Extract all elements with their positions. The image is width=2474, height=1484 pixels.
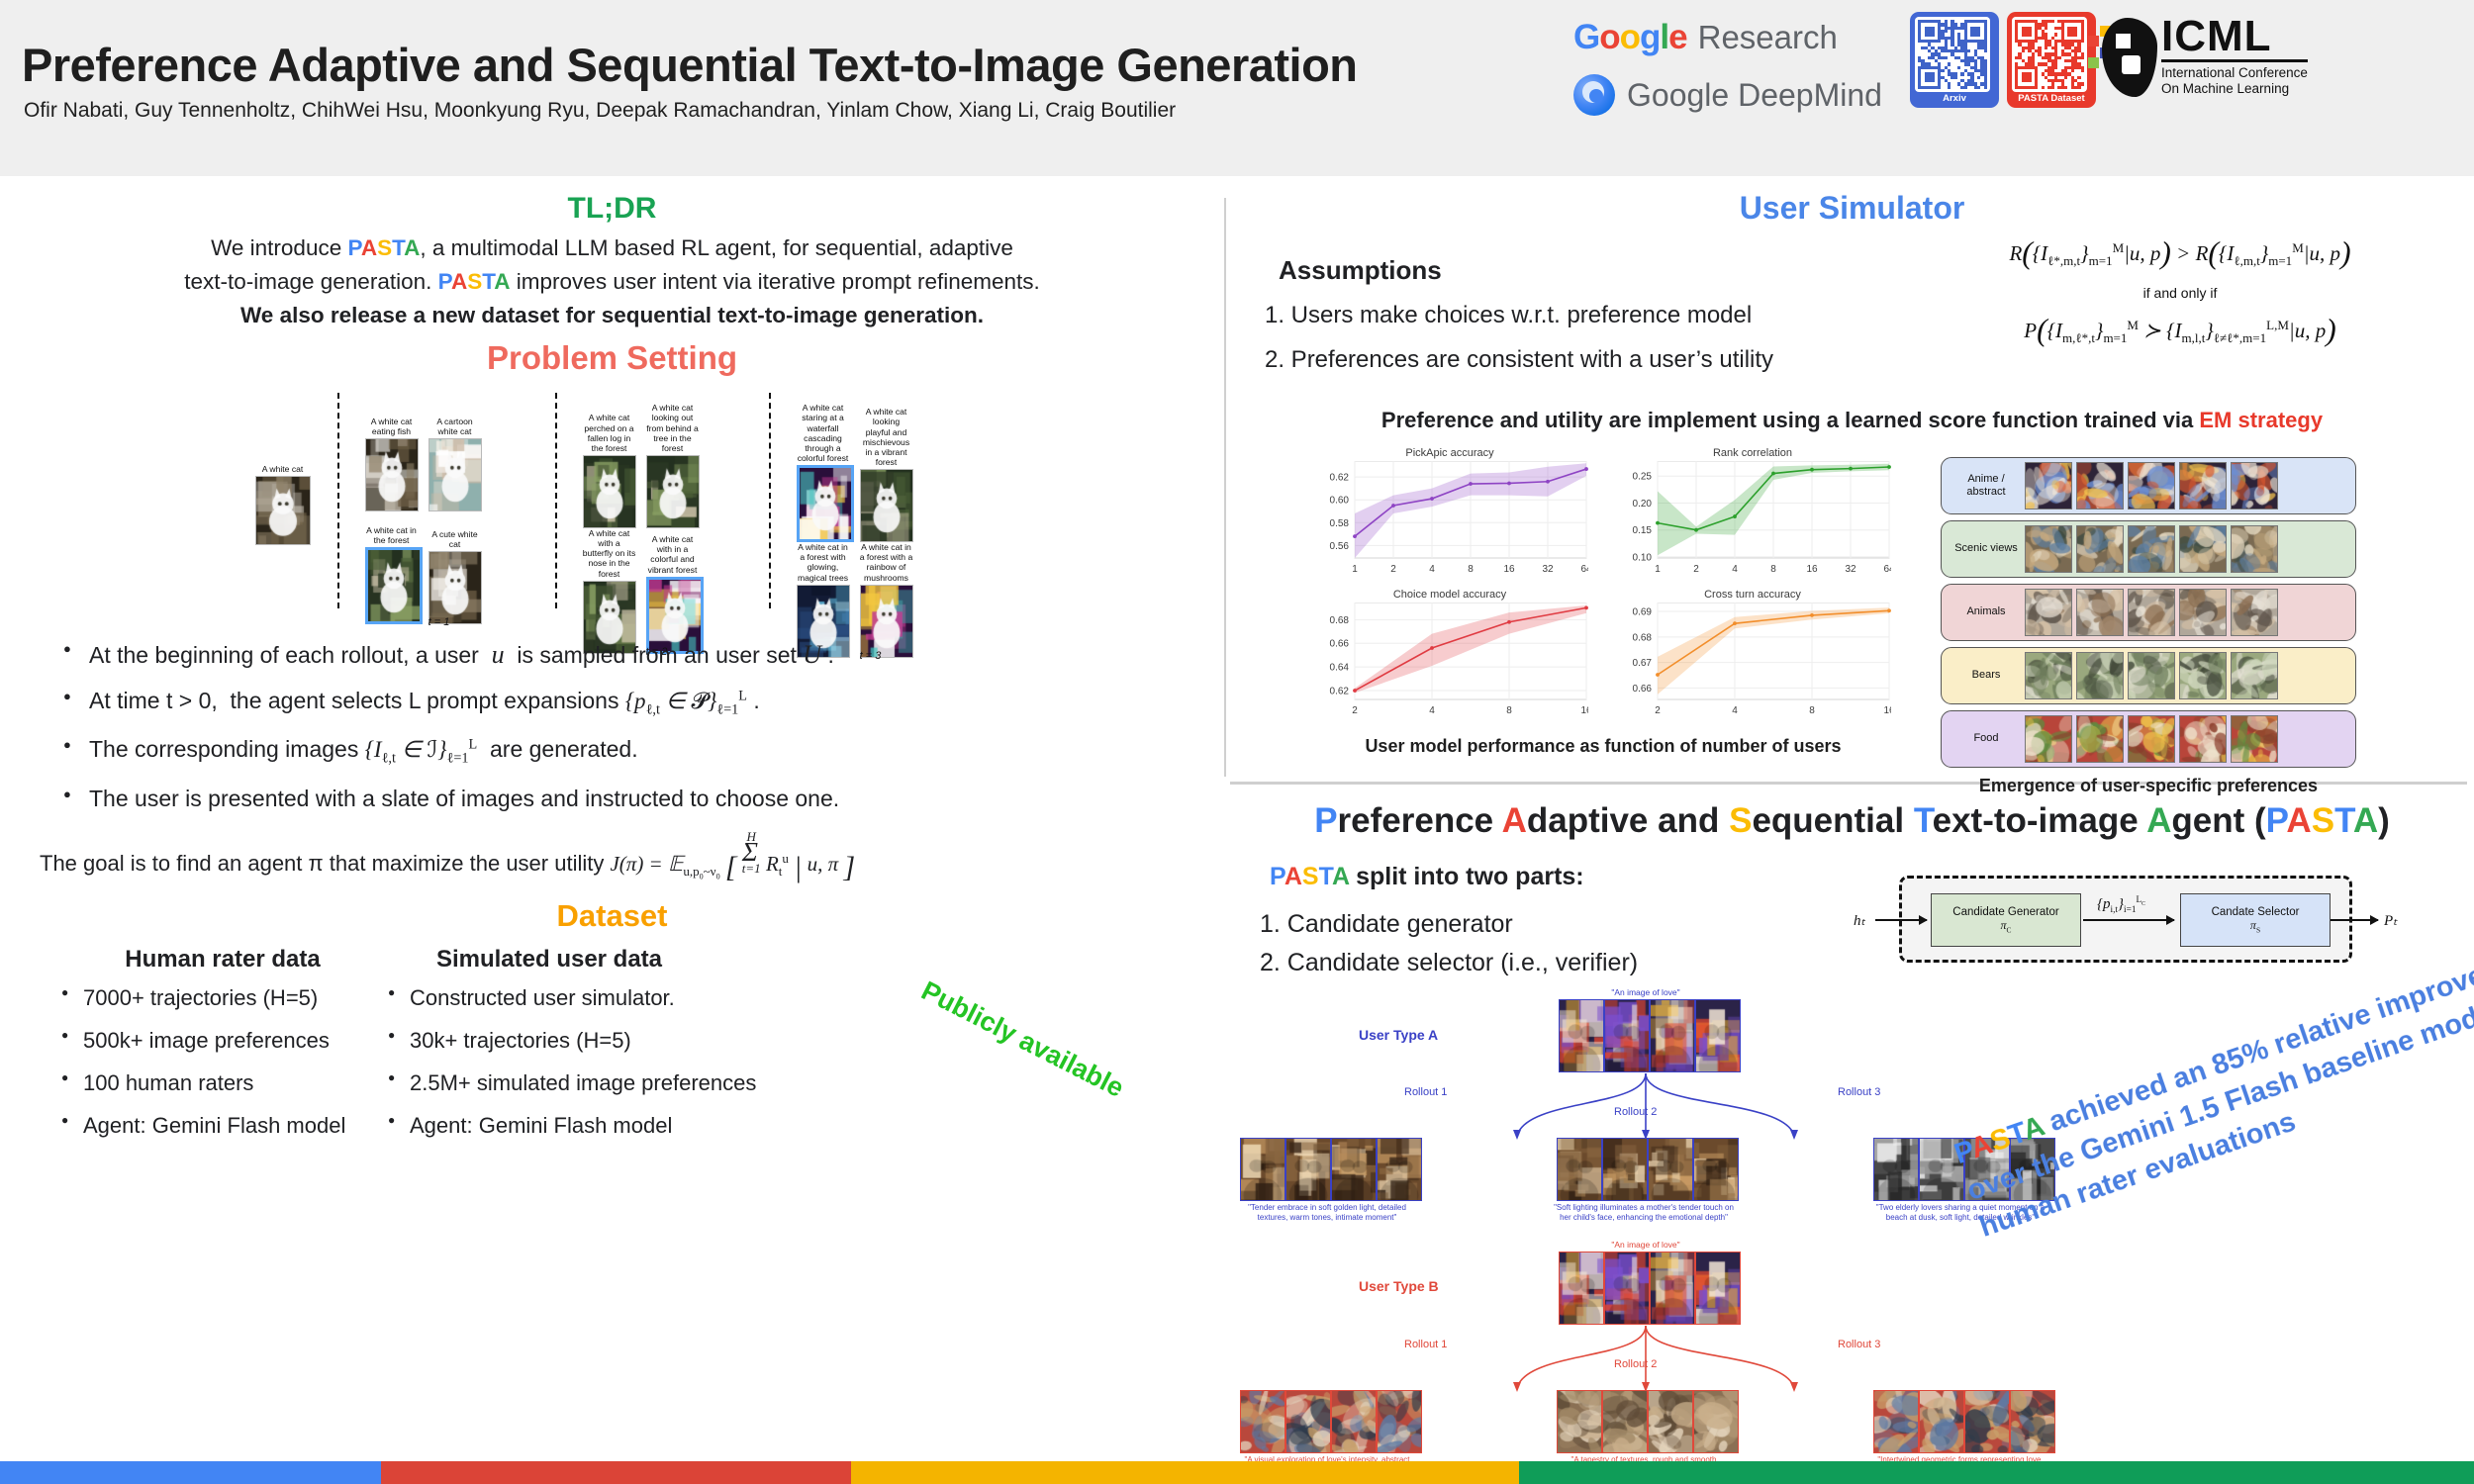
svg-text:0.20: 0.20: [1633, 499, 1653, 510]
flow-arrow-mid: [2083, 919, 2174, 921]
tldr-line3: We also release a new dataset for sequen…: [240, 303, 984, 327]
chart-title: PickApic accuracy: [1311, 447, 1588, 459]
svg-text:0.60: 0.60: [1330, 496, 1350, 507]
candidate-selector-label: Candate Selector: [2212, 906, 2300, 918]
preference-thumb: [2128, 715, 2175, 763]
slate-image[interactable]: [1604, 1252, 1650, 1325]
slate-image[interactable]: [1285, 1138, 1331, 1201]
preference-thumb: [2025, 462, 2072, 510]
rollout-a-slate-2: [1557, 1138, 1739, 1201]
svg-text:32: 32: [1542, 564, 1554, 575]
list-item: Agent: Gemini Flash model: [386, 1113, 713, 1139]
user-type-a-label: User Type A: [1359, 1027, 1438, 1043]
prompt-image-cell[interactable]: A white cat staring at a waterfall casca…: [797, 403, 850, 542]
seed-caption: A white cat: [246, 464, 320, 474]
bar-segment-red: [381, 1461, 851, 1484]
prompt-image-cell[interactable]: A white cat in the forest: [365, 511, 419, 624]
qr-card-arxiv[interactable]: Arxiv: [1910, 12, 1999, 108]
list-item: 2. Preferences are consistent with a use…: [1265, 346, 1898, 374]
svg-text:0.25: 0.25: [1633, 472, 1653, 483]
slate-image[interactable]: [1557, 1138, 1602, 1201]
svg-text:0.66: 0.66: [1633, 684, 1653, 695]
candidate-generator-box: Candidate Generator πC: [1931, 893, 2081, 947]
list-item: The user is presented with a slate of im…: [63, 787, 1224, 810]
rollout-b-root-prompt: "An image of love": [1557, 1240, 1735, 1250]
timestep-group-1: A white cat eating fishA cartoon white c…: [365, 403, 514, 624]
dataset-section: Dataset Human rater data 7000+ trajector…: [0, 898, 1224, 1156]
prompt-image-cell[interactable]: A white cat in a forest with a rainbow o…: [860, 542, 913, 658]
svg-text:0.62: 0.62: [1330, 687, 1350, 697]
dataset-col-title: Human rater data: [59, 946, 386, 974]
dataset-column-simulated: Simulated user data Constructed user sim…: [386, 946, 713, 1156]
tldr-heading: TL;DR: [0, 192, 1224, 226]
list-item: Constructed user simulator.: [386, 985, 713, 1011]
svg-text:8: 8: [1809, 705, 1815, 716]
tldr-line2-post: improves user intent via iterative promp…: [511, 269, 1040, 294]
svg-text:8: 8: [1468, 564, 1474, 575]
slate-image[interactable]: [2010, 1390, 2055, 1453]
poster-root: Preference Adaptive and Sequential Text-…: [0, 0, 2474, 1484]
svg-text:64: 64: [1883, 564, 1891, 575]
icml-name: ICML: [2161, 16, 2308, 57]
user-preference-grid: Anime / abstractScenic viewsAnimalsBears…: [1941, 457, 2356, 796]
bar-segment-blue: [0, 1461, 381, 1484]
tldr-line1-pre: We introduce: [211, 235, 347, 260]
equation-bottom: P({Im,ℓ*,t}m=1M ≻ {Im,l,t}ℓ≠ℓ*,m=1L,M|u,…: [1903, 313, 2457, 348]
list-item: 7000+ trajectories (H=5): [59, 985, 386, 1011]
rollout-a-root-prompt: "An image of love": [1557, 987, 1735, 997]
candidate-generator-policy: πC: [2001, 918, 2012, 934]
slate-image[interactable]: [1693, 1390, 1739, 1453]
column-divider: [1224, 198, 1226, 777]
prefgrid-caption: Emergence of user-specific preferences: [1941, 776, 2356, 796]
bottom-color-bar: [0, 1461, 2474, 1484]
icml-text: ICML International Conference On Machine…: [2161, 16, 2308, 97]
slate-image[interactable]: [1240, 1138, 1285, 1201]
preference-thumb: [2231, 589, 2278, 636]
prompt-image-cell[interactable]: A white cat perched on a fallen log in t…: [583, 413, 636, 528]
preference-thumb: [2076, 525, 2124, 573]
generated-image-selected[interactable]: [797, 465, 854, 542]
generated-image-selected[interactable]: [365, 547, 423, 624]
preference-thumb: [2025, 715, 2072, 763]
prompt-caption: A cartoon white cat: [428, 403, 482, 436]
prompt-caption: A white cat perched on a fallen log in t…: [583, 413, 636, 453]
svg-text:16: 16: [1580, 705, 1588, 716]
chart-2: Rank correlation0.100.150.200.2512481632…: [1614, 447, 1891, 585]
rollout-diagram: "An image of love" User Type A Rollout 1…: [1230, 960, 2259, 1484]
qr-label-arxiv: Arxiv: [1915, 92, 1994, 105]
svg-text:0.58: 0.58: [1330, 518, 1350, 529]
rollout-b-slate-2: [1557, 1390, 1739, 1453]
prompt-caption: A white cat in the forest: [365, 511, 419, 545]
chart-svg: 0.660.670.680.6924816: [1614, 603, 1891, 721]
tldr-line1-post: , a multimodal LLM based RL agent, for s…: [420, 235, 1013, 260]
slate-image[interactable]: [1650, 999, 1695, 1072]
timestep-group-3: A white cat staring at a waterfall casca…: [797, 403, 945, 657]
svg-text:4: 4: [1429, 564, 1435, 575]
em-strategy-highlight: EM strategy: [2199, 408, 2323, 432]
prompt-image-cell[interactable]: A white cat eating fish: [365, 403, 419, 511]
assumptions-title: Assumptions: [1279, 255, 1898, 286]
preference-thumb: [2128, 589, 2175, 636]
list-item: At the beginning of each rollout, a user…: [63, 641, 1224, 668]
preference-thumb: [2025, 525, 2072, 573]
prompt-caption: A white cat looking out from behind a tr…: [646, 403, 700, 453]
prompt-caption: A white cat looking playful and mischiev…: [860, 407, 913, 467]
qr-label-pasta: PASTA Dataset: [2012, 92, 2091, 105]
user-simulator-heading: User Simulator: [1230, 178, 2474, 227]
rollout-b-root-slate: [1559, 1252, 1741, 1325]
pasta-split-title: PASTA split into two parts:: [1270, 863, 1584, 891]
preference-thumb: [2231, 462, 2278, 510]
slate-image[interactable]: [1559, 999, 1604, 1072]
qr-image-pasta: [2012, 17, 2087, 92]
rollout-a-caption-2: "Soft lighting illuminates a mother's te…: [1551, 1203, 1737, 1223]
svg-text:0.62: 0.62: [1330, 473, 1350, 484]
flow-output-label: Pₜ: [2384, 911, 2398, 930]
prompt-caption: A white cat eating fish: [365, 403, 419, 436]
charts-caption: User model performance as function of nu…: [1311, 736, 1895, 757]
slate-row: A white cat with a butterfly on its nose…: [583, 528, 731, 654]
preference-row-3: Animals: [1941, 584, 2356, 641]
candidate-selector-box: Candate Selector πS: [2180, 893, 2331, 947]
rollout-a-root-slate: [1559, 999, 1741, 1072]
preference-thumb: [2179, 715, 2227, 763]
goal-text: The goal is to find an agent π that maxi…: [40, 851, 604, 876]
slate-image[interactable]: [1873, 1138, 1919, 1201]
preference-thumb: [2128, 462, 2175, 510]
slate-image[interactable]: [1919, 1390, 1964, 1453]
svg-text:0.66: 0.66: [1330, 639, 1350, 650]
svg-text:1: 1: [1352, 564, 1358, 575]
slate-image[interactable]: [1557, 1390, 1602, 1453]
candidate-generator-label: Candidate Generator: [1952, 906, 2058, 918]
svg-text:0.68: 0.68: [1633, 632, 1653, 643]
chart-title: Choice model accuracy: [1311, 589, 1588, 601]
prompt-caption: A white cat in a forest with a rainbow o…: [860, 542, 913, 583]
chart-4: Cross turn accuracy0.660.670.680.6924816: [1614, 589, 1891, 726]
flow-input-label: hₜ: [1854, 911, 1865, 930]
list-item: 2.5M+ simulated image preferences: [386, 1070, 713, 1096]
rollout-a-slate-1: [1240, 1138, 1422, 1201]
chart-svg: 0.560.580.600.621248163264: [1311, 461, 1588, 580]
list-item: 1. Candidate generator: [1260, 905, 1638, 944]
generated-image[interactable]: [428, 438, 482, 511]
user-type-b-label: User Type B: [1359, 1278, 1439, 1294]
preference-thumb: [2179, 462, 2227, 510]
preference-thumb: [2179, 525, 2227, 573]
pasta-wordmark: PASTA: [438, 269, 511, 294]
google-research-logo: Google Research: [1573, 14, 1771, 61]
slate-image[interactable]: [1331, 1138, 1377, 1201]
svg-text:0.68: 0.68: [1330, 615, 1350, 626]
assumptions-block: Assumptions 1. Users make choices w.r.t.…: [1265, 255, 1898, 391]
goal-statement: The goal is to find an agent π that maxi…: [40, 830, 1224, 884]
prompt-image-cell[interactable]: A cartoon white cat: [428, 403, 482, 511]
equation-iff: if and only if: [1903, 285, 2457, 301]
rollout-b-tag-1: Rollout 1: [1404, 1339, 1447, 1350]
preference-thumb: [2025, 589, 2072, 636]
rollout-a-tag-1: Rollout 1: [1404, 1086, 1447, 1098]
slate-row: A white cat perched on a fallen log in t…: [583, 403, 731, 528]
preference-thumb: [2179, 652, 2227, 699]
tldr-line2-pre: text-to-image generation.: [184, 269, 437, 294]
preference-row-2: Scenic views: [1941, 520, 2356, 578]
preference-thumb: [2076, 462, 2124, 510]
list-item: At time t > 0, the agent selects L promp…: [63, 689, 1224, 718]
svg-text:2: 2: [1693, 564, 1699, 575]
preference-utility-line: Preference and utility are implement usi…: [1230, 408, 2474, 433]
svg-text:0.67: 0.67: [1633, 658, 1653, 669]
slate-image[interactable]: [1285, 1390, 1331, 1453]
chart-svg: 0.620.640.660.6824816: [1311, 603, 1588, 721]
slate-image[interactable]: [1377, 1138, 1422, 1201]
rollout-b-slate-1: [1240, 1390, 1422, 1453]
chart-svg: 0.100.150.200.251248163264: [1614, 461, 1891, 580]
prompt-image-cell[interactable]: A white cat looking out from behind a tr…: [646, 403, 700, 528]
rollout-b-slate-3: [1873, 1390, 2055, 1453]
user-model-charts: PickApic accuracy0.560.580.600.621248163…: [1311, 447, 1895, 757]
slate-image[interactable]: [1964, 1390, 2010, 1453]
svg-text:4: 4: [1429, 705, 1435, 716]
slate-image[interactable]: [1240, 1390, 1285, 1453]
slate-image[interactable]: [1648, 1138, 1693, 1201]
preference-row-label: Food: [1948, 732, 2025, 745]
right-column: User Simulator Assumptions 1. Users make…: [1230, 178, 2474, 1464]
pasta-flow-diagram: hₜ Candidate Generator πC {pi,t}i=1LC Ca…: [1854, 856, 2408, 965]
svg-text:2: 2: [1390, 564, 1396, 575]
slate-row: A white cat staring at a waterfall casca…: [797, 403, 945, 542]
svg-text:0.64: 0.64: [1330, 663, 1350, 674]
qr-image-arxiv: [1915, 17, 1990, 92]
slate-image[interactable]: [1377, 1390, 1422, 1453]
preference-row-label: Scenic views: [1948, 542, 2025, 555]
svg-text:8: 8: [1506, 705, 1512, 716]
seed-image: [255, 476, 311, 545]
qr-card-pasta-dataset[interactable]: PASTA Dataset: [2007, 12, 2096, 108]
bar-segment-yellow: [851, 1461, 1519, 1484]
problem-setting-figure: A white cat A white cat eating fishA car…: [246, 393, 979, 615]
icml-mark-icon: [2088, 14, 2159, 99]
sponsor-logos: Google Research Google DeepMind: [1573, 14, 1771, 129]
preference-thumb: [2025, 652, 2072, 699]
qr-code-group: Arxiv PASTA Dataset: [1910, 12, 2096, 108]
slate-image[interactable]: [1873, 1390, 1919, 1453]
list-item: 1. Users make choices w.r.t. preference …: [1265, 302, 1898, 329]
flow-mid-label: {pi,t}i=1LC: [2097, 895, 2145, 915]
list-item: 500k+ image preferences: [59, 1028, 386, 1054]
goal-formula: J(π) = 𝔼u,p0~ν0 [ HΣt=1 Rtu | u, π ]: [610, 852, 855, 876]
preference-thumb: [2128, 652, 2175, 699]
google-wordmark: Google: [1573, 18, 1687, 57]
rollout-b-tag-2: Rollout 2: [1614, 1358, 1657, 1370]
google-deepmind-logo: Google DeepMind: [1573, 71, 1771, 119]
chart-title: Cross turn accuracy: [1614, 589, 1891, 601]
slate-image[interactable]: [1604, 999, 1650, 1072]
slate-row: A white cat in the forestA cute white ca…: [365, 511, 514, 624]
icml-logo: ICML International Conference On Machine…: [2088, 14, 2308, 99]
chart-1: PickApic accuracy0.560.580.600.621248163…: [1311, 447, 1588, 585]
preference-thumb: [2128, 525, 2175, 573]
svg-text:2: 2: [1352, 705, 1358, 716]
svg-text:4: 4: [1732, 564, 1738, 575]
pasta-section-heading: Preference Adaptive and Sequential Text-…: [1230, 801, 2474, 841]
list-item: The corresponding images {Iℓ,t ∈ ℐ}ℓ=1L …: [63, 737, 1224, 767]
prompt-caption: A white cat with a butterfly on its nose…: [583, 528, 636, 579]
prompt-image-cell[interactable]: A white cat looking playful and mischiev…: [860, 407, 913, 542]
svg-text:64: 64: [1580, 564, 1588, 575]
svg-text:16: 16: [1883, 705, 1891, 716]
seed-prompt-cell: A white cat: [246, 464, 320, 545]
list-item: Agent: Gemini Flash model: [59, 1113, 386, 1139]
timestep-label: t = 1: [365, 616, 514, 628]
preference-thumb: [2076, 715, 2124, 763]
svg-text:0.69: 0.69: [1633, 607, 1653, 618]
rollout-a-tag-2: Rollout 2: [1614, 1106, 1657, 1118]
preference-thumb: [2076, 652, 2124, 699]
preference-row-1: Anime / abstract: [1941, 457, 2356, 514]
list-item: 100 human raters: [59, 1070, 386, 1096]
svg-text:0.56: 0.56: [1330, 541, 1350, 552]
chart-3: Choice model accuracy0.620.640.660.68248…: [1311, 589, 1588, 726]
preference-row-label: Animals: [1948, 605, 2025, 618]
slate-image[interactable]: [1559, 1252, 1604, 1325]
slate-image[interactable]: [1648, 1390, 1693, 1453]
svg-text:2: 2: [1655, 705, 1661, 716]
bar-segment-green: [1519, 1461, 2474, 1484]
candidate-selector-policy: πS: [2250, 918, 2260, 934]
preference-row-5: Food: [1941, 710, 2356, 768]
pasta-wordmark: PASTA: [347, 235, 420, 260]
prompt-image-cell[interactable]: A white cat with a butterfly on its nose…: [583, 528, 636, 654]
slate-image[interactable]: [1602, 1390, 1648, 1453]
preference-thumb: [2076, 589, 2124, 636]
slate-image[interactable]: [1650, 1252, 1695, 1325]
svg-text:8: 8: [1770, 564, 1776, 575]
pasta-split-text: split into two parts:: [1349, 863, 1584, 890]
slate-image[interactable]: [1695, 999, 1741, 1072]
poster-header: Preference Adaptive and Sequential Text-…: [0, 0, 2474, 176]
left-column: TL;DR We introduce PASTA, a multimodal L…: [0, 178, 1224, 1464]
generated-image[interactable]: [583, 455, 636, 528]
prompt-image-cell[interactable]: A cute white cat: [428, 515, 482, 624]
slate-image[interactable]: [1331, 1390, 1377, 1453]
dataset-column-human: Human rater data 7000+ trajectories (H=5…: [59, 946, 386, 1156]
svg-text:4: 4: [1732, 705, 1738, 716]
timestep-group-2: A white cat perched on a fallen log in t…: [583, 403, 731, 653]
prompt-image-cell[interactable]: A white cat with in a colorful and vibra…: [646, 534, 700, 654]
prompt-caption: A white cat staring at a waterfall casca…: [797, 403, 850, 463]
generated-image[interactable]: [646, 455, 700, 528]
dataset-col-title: Simulated user data: [386, 946, 713, 974]
deepmind-swirl-icon: [1573, 74, 1615, 116]
prompt-caption: A white cat with in a colorful and vibra…: [646, 534, 700, 575]
equation-top: R({Iℓ*,m,t}m=1M|u, p) > R({Iℓ,m,t}m=1M|u…: [1903, 235, 2457, 271]
prompt-caption: A cute white cat: [428, 515, 482, 549]
page-title: Preference Adaptive and Sequential Text-…: [22, 38, 1358, 92]
generated-image[interactable]: [428, 551, 482, 624]
chart-title: Rank correlation: [1614, 447, 1891, 459]
preference-thumb: [2231, 715, 2278, 763]
flow-arrow-out: [2331, 919, 2378, 921]
rollout-b-tag-3: Rollout 3: [1838, 1339, 1880, 1350]
preference-thumb: [2231, 652, 2278, 699]
icml-sub-line2: On Machine Learning: [2161, 81, 2308, 97]
svg-text:0.15: 0.15: [1633, 525, 1653, 536]
prompt-caption: A white cat in a forest with glowing, ma…: [797, 542, 850, 583]
problem-setting-heading: Problem Setting: [0, 339, 1224, 377]
svg-text:16: 16: [1806, 564, 1818, 575]
rollout-a-caption-1: "Tender embrace in soft golden light, de…: [1234, 1203, 1420, 1223]
google-deepmind-label: Google DeepMind: [1627, 77, 1882, 114]
preference-thumb: [2179, 589, 2227, 636]
slate-image[interactable]: [1695, 1252, 1741, 1325]
preference-row-label: Bears: [1948, 669, 2025, 682]
preference-row-label: Anime / abstract: [1948, 473, 2025, 499]
slate-image[interactable]: [1693, 1138, 1739, 1201]
problem-bullet-list: At the beginning of each rollout, a user…: [24, 641, 1224, 810]
list-item: 30k+ trajectories (H=5): [386, 1028, 713, 1054]
svg-text:16: 16: [1503, 564, 1515, 575]
generated-image[interactable]: [365, 438, 419, 511]
svg-text:0.10: 0.10: [1633, 552, 1653, 563]
preference-row-4: Bears: [1941, 647, 2356, 704]
svg-text:1: 1: [1655, 564, 1661, 575]
svg-text:32: 32: [1845, 564, 1856, 575]
icml-sub-line1: International Conference: [2161, 65, 2308, 81]
preference-utility-text: Preference and utility are implement usi…: [1381, 408, 2199, 432]
preference-thumb: [2231, 525, 2278, 573]
preference-equations: R({Iℓ*,m,t}m=1M|u, p) > R({Iℓ,m,t}m=1M|u…: [1903, 235, 2457, 348]
tldr-body: We introduce PASTA, a multimodal LLM bas…: [36, 232, 1189, 331]
slate-row: A white cat eating fishA cartoon white c…: [365, 403, 514, 511]
author-list: Ofir Nabati, Guy Tennenholtz, ChihWei Hs…: [24, 99, 1176, 123]
generated-image[interactable]: [860, 469, 913, 542]
rollout-a-tag-3: Rollout 3: [1838, 1086, 1880, 1098]
dataset-heading: Dataset: [0, 898, 1224, 934]
slate-image[interactable]: [1602, 1138, 1648, 1201]
google-research-label: Research: [1698, 19, 1838, 56]
flow-arrow-in: [1875, 919, 1927, 921]
